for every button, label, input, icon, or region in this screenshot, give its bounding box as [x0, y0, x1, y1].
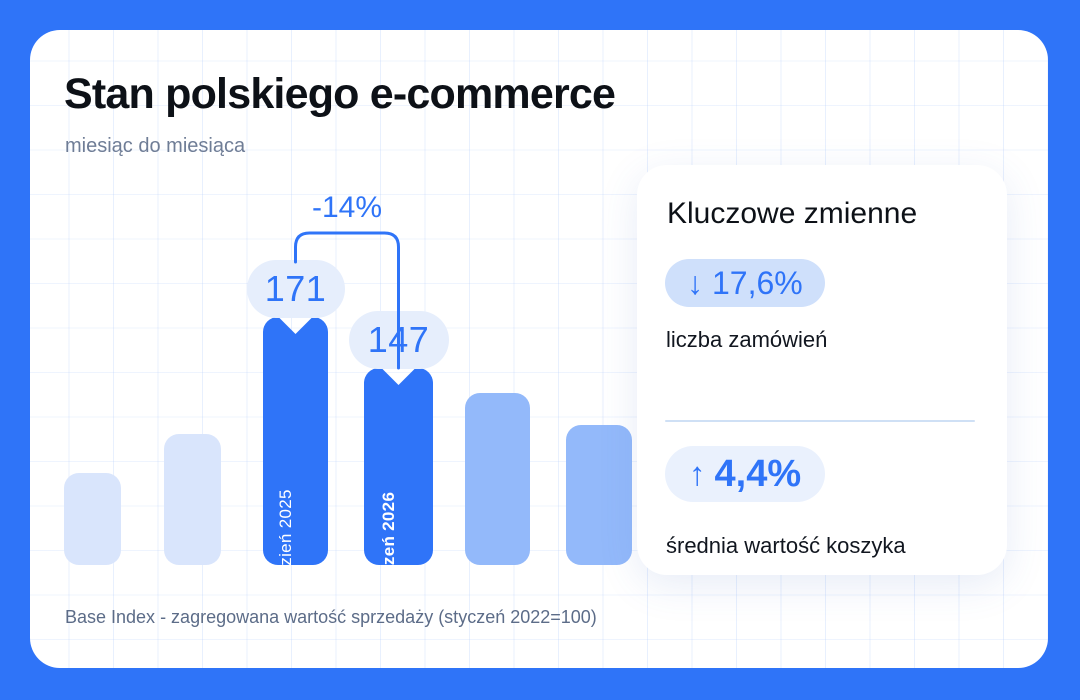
- main-card: Grudzień 2025Styczeń 2026171147-14% Stan…: [30, 30, 1048, 668]
- bar-4: Styczeń 2026: [364, 368, 433, 565]
- bar-6: [566, 425, 632, 565]
- delta-annotation-label: -14%: [312, 191, 382, 225]
- value-bubble-styczeń-2026: 147: [349, 311, 449, 369]
- page-subtitle: miesiąc do miesiąca: [65, 135, 245, 158]
- bar-1: [64, 473, 121, 565]
- key-metrics-panel: Kluczowe zmienne ↓ 17,6% liczba zamówień…: [637, 165, 1007, 575]
- bar-3: Grudzień 2025: [263, 317, 328, 565]
- page-title: Stan polskiego e-commerce: [64, 70, 615, 119]
- arrow-up-icon: ↑: [689, 455, 706, 493]
- metric-badge-orders: ↓ 17,6%: [665, 259, 825, 307]
- metric-badge-basket: ↑ 4,4%: [665, 446, 825, 502]
- bar-label-3: Grudzień 2025: [276, 489, 296, 604]
- metric-caption-orders: liczba zamówień: [666, 327, 827, 353]
- bar-2: [164, 434, 221, 565]
- panel-divider: [665, 420, 975, 422]
- bar-label-4: Styczeń 2026: [379, 492, 399, 602]
- infographic-page: Grudzień 2025Styczeń 2026171147-14% Stan…: [0, 0, 1080, 700]
- value-bubble-grudzień-2025: 171: [247, 260, 345, 318]
- arrow-down-icon: ↓: [687, 265, 703, 302]
- panel-title: Kluczowe zmienne: [667, 197, 917, 231]
- metric-value-orders: 17,6%: [712, 265, 803, 302]
- chart-footnote: Base Index - zagregowana wartość sprzeda…: [65, 607, 597, 628]
- metric-caption-basket: średnia wartość koszyka: [666, 533, 906, 559]
- metric-value-basket: 4,4%: [715, 453, 802, 496]
- bar-5: [465, 393, 530, 565]
